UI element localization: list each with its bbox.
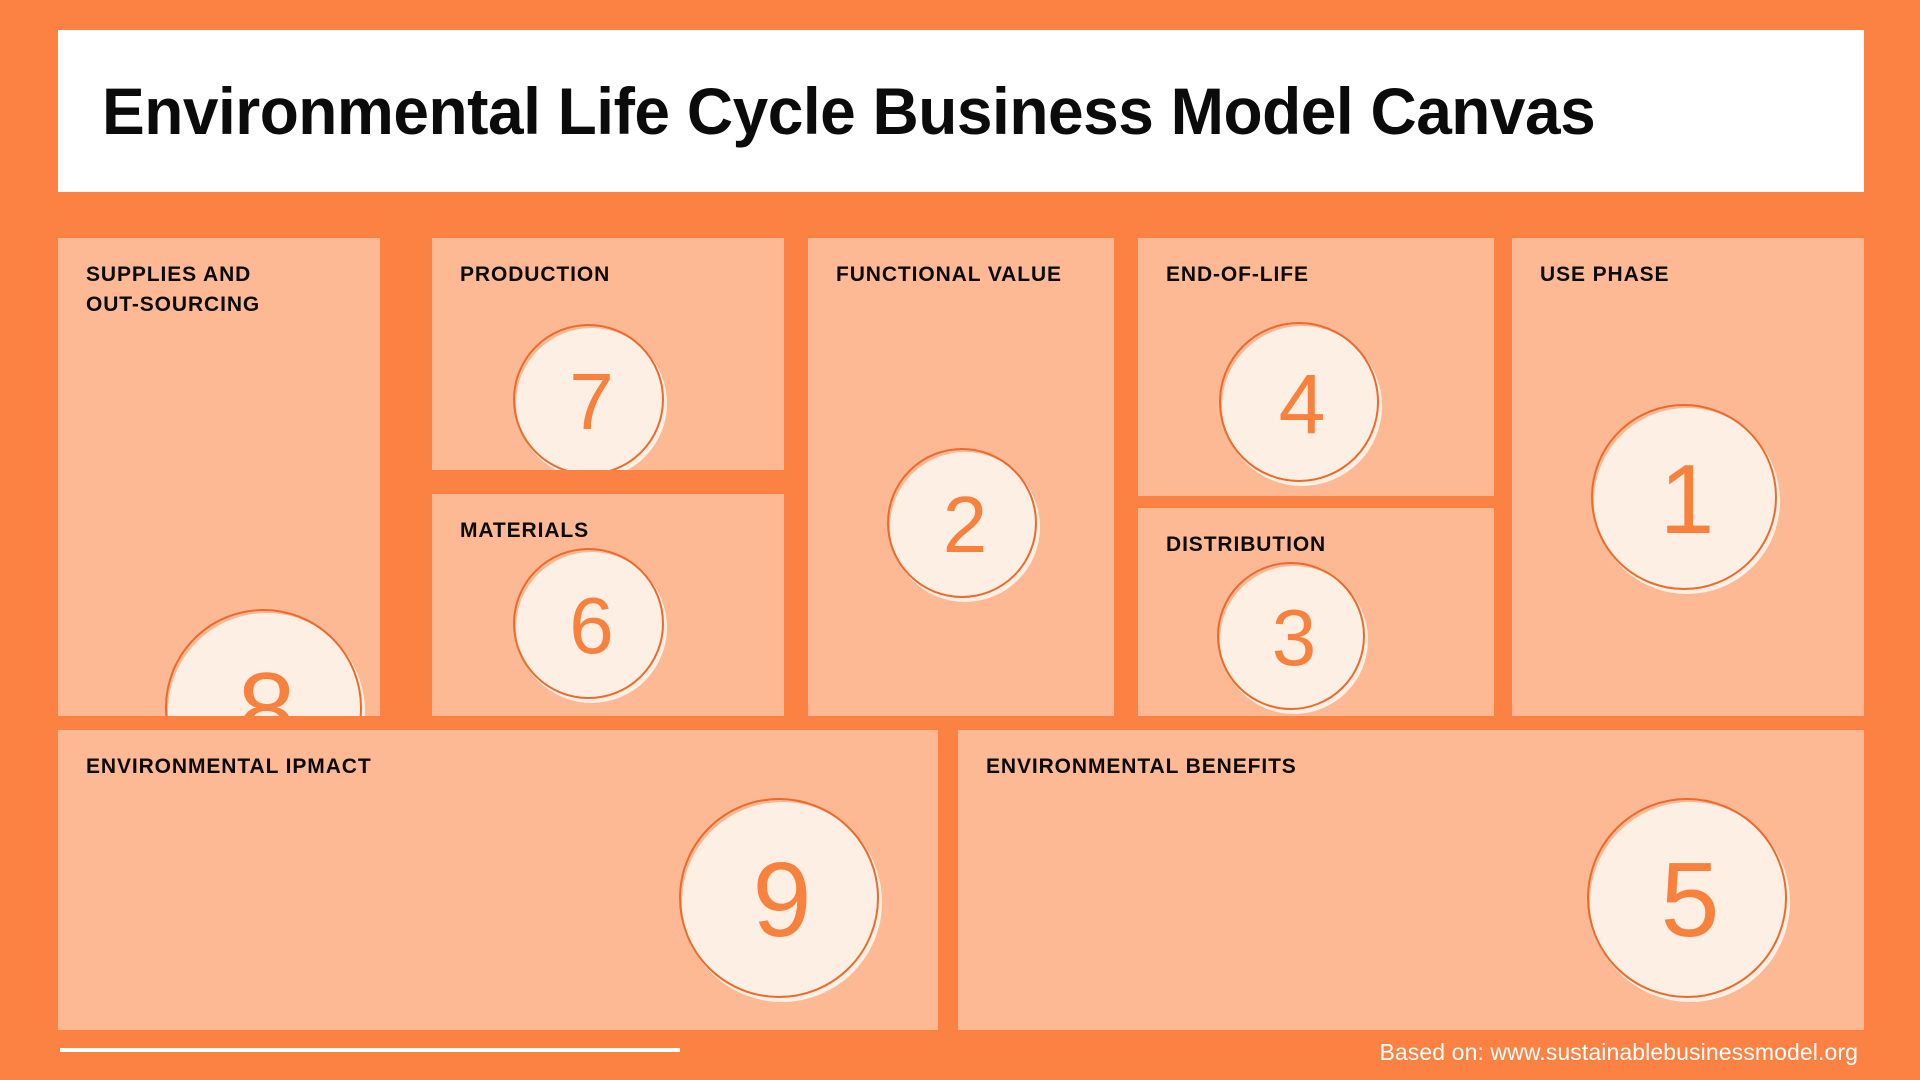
number-value-9: 9 [753,847,812,953]
card-materials[interactable]: MATERIALS 6 [432,494,784,716]
number-value-2: 2 [943,485,988,565]
card-supplies-and-outsourcing[interactable]: SUPPLIES AND OUT-SOURCING 8 [58,238,380,716]
card-label-production: PRODUCTION [460,260,610,290]
card-label-supplies-and-outsourcing: SUPPLIES AND OUT-SOURCING [86,260,260,320]
card-distribution[interactable]: DISTRIBUTION 3 [1138,508,1494,716]
number-badge-6: 6 [516,552,667,703]
card-label-end-of-life: END-OF-LIFE [1166,260,1309,290]
number-badge-7: 7 [516,328,667,470]
card-label-use-phase: USE PHASE [1540,260,1669,290]
footer-divider-line [60,1048,680,1052]
card-end-of-life[interactable]: END-OF-LIFE 4 [1138,238,1494,496]
card-environmental-impact[interactable]: ENVIRONMENTAL IPMACT 9 [58,730,938,1030]
card-production[interactable]: PRODUCTION 7 [432,238,784,470]
number-badge-3: 3 [1220,566,1368,714]
title-bar: Environmental Life Cycle Business Model … [58,30,1864,192]
number-value-8: 8 [238,658,296,717]
card-label-materials: MATERIALS [460,516,589,546]
number-value-6: 6 [569,586,614,666]
number-badge-4: 4 [1222,326,1382,486]
number-badge-5: 5 [1590,802,1790,1002]
card-environmental-benefits[interactable]: ENVIRONMENTAL BENEFITS 5 [958,730,1864,1030]
number-value-1: 1 [1660,450,1715,548]
number-badge-8: 8 [168,613,365,716]
card-use-phase[interactable]: USE PHASE 1 [1512,238,1864,716]
number-badge-2: 2 [890,452,1040,602]
page-title: Environmental Life Cycle Business Model … [102,73,1595,149]
card-label-environmental-impact: ENVIRONMENTAL IPMACT [86,752,372,782]
number-badge-1: 1 [1594,408,1780,594]
number-value-5: 5 [1661,847,1720,953]
number-value-3: 3 [1272,598,1317,678]
card-functional-value[interactable]: FUNCTIONAL VALUE 2 [808,238,1114,716]
card-label-distribution: DISTRIBUTION [1166,530,1326,560]
card-label-environmental-benefits: ENVIRONMENTAL BENEFITS [986,752,1297,782]
number-badge-9: 9 [682,802,882,1002]
number-value-4: 4 [1279,362,1326,446]
footer-credit: Based on: www.sustainablebusinessmodel.o… [1379,1039,1858,1066]
card-label-functional-value: FUNCTIONAL VALUE [836,260,1062,290]
number-value-7: 7 [569,362,614,442]
